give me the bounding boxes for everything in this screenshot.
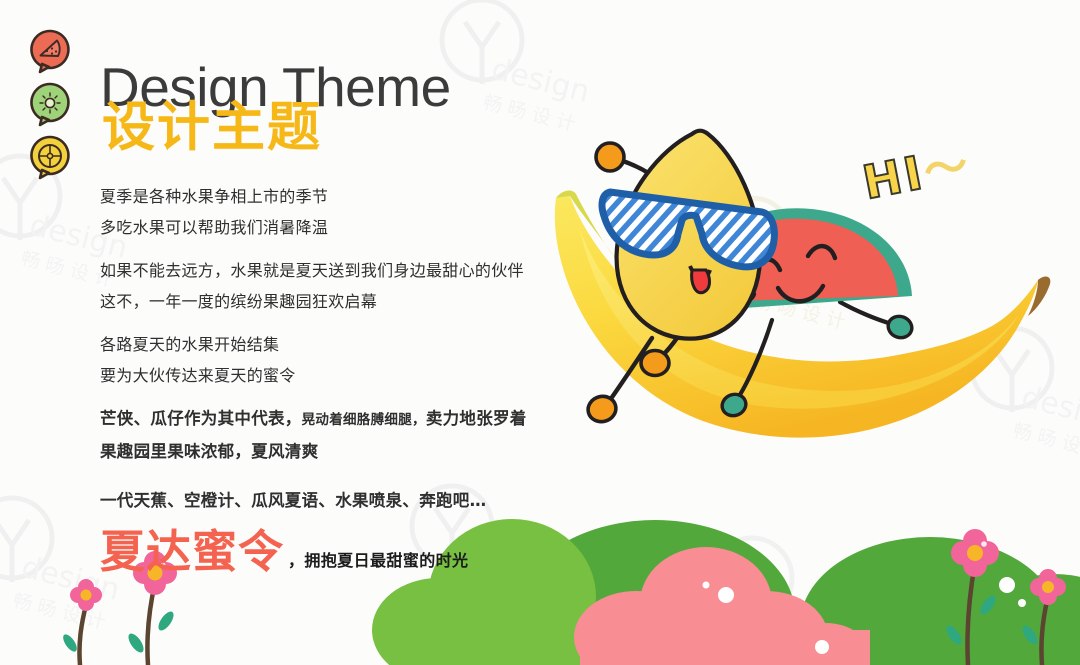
fruit-illustration [540,120,1080,460]
paragraph-line-emphasis: 芒侠、瓜仔作为其中代表，晃动着细胳膊细腿，卖力地张罗着 [100,403,620,436]
greeting-label: HI [858,145,929,210]
paragraph-line: 要为大伙传达来夏天的蜜令 [100,360,620,391]
paragraph-line: 各路夏天的水果开始结集 [100,329,620,360]
page-title-cn: 设计主题 [102,100,451,156]
emphasis-segment-small: 晃动着细胳膊细腿， [302,412,426,428]
watermelon-bubble-icon [27,28,73,74]
page-title-group: Design Theme 设计主题 [100,58,451,156]
emphasis-segment: 芒侠、瓜仔作为其中代表， [100,409,302,428]
paragraph-line: 如果不能去远方，水果就是夏天送到我们身边最甜心的伙伴 [100,255,620,286]
fruit-icon-list [27,28,73,187]
paragraph-line: 多吃水果可以帮助我们消暑降温 [100,212,620,243]
greeting-tilde: ～ [919,139,975,198]
svg-text:design: design [488,52,593,110]
body-copy: 夏季是各种水果争相上市的季节 多吃水果可以帮助我们消暑降温 如果不能去远方，水果… [100,181,620,516]
kiwi-bubble-icon [27,81,73,127]
paragraph-line-emphasis: 果趣园里果味浓郁，夏风清爽 [100,436,620,467]
paragraph-line: 这不，一年一度的缤纷果趣园狂欢启幕 [100,286,620,317]
presentation-slide: design 畅 旸 设 计 design 畅 旸 设 计 design [0,0,1080,665]
slogan-main: 夏达蜜令 [100,527,284,577]
lemon-bubble-icon [27,134,73,180]
slogan-sub: ，拥抱夏日最甜蜜的时光 [288,547,468,571]
paragraph-line-emphasis: 一代天蕉、空橙计、瓜风夏语、水果喷泉、奔跑吧… [100,485,620,516]
emphasis-segment: 卖力地张罗着 [426,409,527,428]
slogan-group: 夏达蜜令 ，拥抱夏日最甜蜜的时光 [100,527,468,577]
paragraph-line: 夏季是各种水果争相上市的季节 [100,181,620,212]
